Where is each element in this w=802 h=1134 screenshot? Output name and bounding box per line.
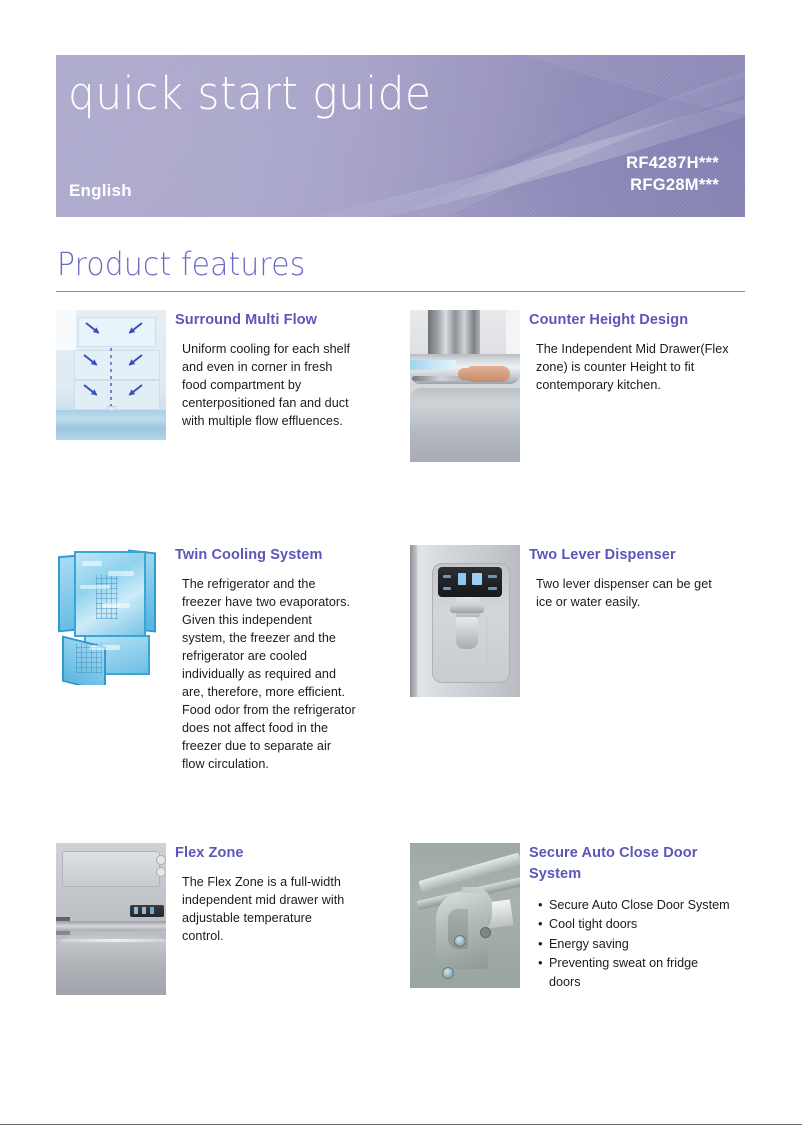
feature-thumbnail-two-lever-dispenser	[410, 545, 520, 697]
model-number-2: RFG28M***	[626, 175, 719, 197]
banner-language-label: English	[69, 181, 132, 201]
section-divider	[56, 291, 745, 292]
feature-text-twin-cooling-system: Twin Cooling System The refrigerator and…	[166, 545, 356, 773]
banner-title: quick start guide	[68, 71, 431, 116]
feature-thumbnail-surround-multi-flow	[56, 310, 166, 440]
feature-card-secure-auto-close-door-system: Secure Auto Close Door System Secure Aut…	[410, 843, 730, 992]
feature-card-flex-zone: Flex Zone The Flex Zone is a full-width …	[56, 843, 356, 995]
model-number-1: RF4287H***	[626, 153, 719, 175]
banner-model-numbers: RF4287H*** RFG28M***	[626, 153, 719, 197]
door-hinge-mechanism-photo	[410, 843, 520, 988]
list-item: Cool tight doors	[549, 915, 730, 934]
feature-text-two-lever-dispenser: Two Lever Dispenser Two lever dispenser …	[520, 545, 730, 611]
feature-heading: Surround Multi Flow	[175, 310, 356, 331]
feature-card-two-lever-dispenser: Two Lever Dispenser Two lever dispenser …	[410, 545, 730, 697]
feature-thumbnail-flex-zone	[56, 843, 166, 995]
list-item: Secure Auto Close Door System	[549, 896, 730, 915]
feature-card-surround-multi-flow: Surround Multi Flow Uniform cooling for …	[56, 310, 356, 440]
fridge-mid-drawer-hand-photo	[410, 310, 520, 462]
feature-text-flex-zone: Flex Zone The Flex Zone is a full-width …	[166, 843, 356, 945]
feature-heading: Secure Auto Close Door System	[529, 843, 730, 885]
fridge-interior-airflow-photo	[56, 310, 166, 440]
footer-divider	[0, 1124, 802, 1125]
feature-body: The Flex Zone is a full-width independen…	[182, 873, 356, 945]
feature-text-secure-auto-close-door-system: Secure Auto Close Door System Secure Aut…	[520, 843, 730, 992]
feature-bullet-list: Secure Auto Close Door System Cool tight…	[529, 896, 730, 992]
feature-body: The refrigerator and the freezer have tw…	[182, 575, 356, 773]
blue-translucent-fridge-photo	[56, 545, 166, 685]
feature-thumbnail-counter-height-design	[410, 310, 520, 462]
feature-heading: Flex Zone	[175, 843, 356, 864]
feature-card-twin-cooling-system: Twin Cooling System The refrigerator and…	[56, 545, 356, 773]
feature-text-counter-height-design: Counter Height Design The Independent Mi…	[520, 310, 730, 394]
feature-heading: Two Lever Dispenser	[529, 545, 730, 566]
flex-zone-drawer-photo	[56, 843, 166, 995]
header-banner: quick start guide English RF4287H*** RFG…	[56, 55, 745, 217]
water-ice-dispenser-photo	[410, 545, 520, 697]
feature-thumbnail-twin-cooling-system	[56, 545, 166, 685]
feature-thumbnail-secure-auto-close-door-system	[410, 843, 520, 988]
page-title: Product features	[57, 245, 305, 283]
list-item: Energy saving	[549, 935, 730, 954]
feature-card-counter-height-design: Counter Height Design The Independent Mi…	[410, 310, 730, 462]
list-item: Preventing sweat on fridge doors	[549, 954, 730, 993]
feature-body: Uniform cooling for each shelf and even …	[182, 340, 356, 430]
feature-body: The Independent Mid Drawer(Flex zone) is…	[536, 340, 730, 394]
feature-heading: Twin Cooling System	[175, 545, 356, 566]
feature-heading: Counter Height Design	[529, 310, 730, 331]
feature-text-surround-multi-flow: Surround Multi Flow Uniform cooling for …	[166, 310, 356, 430]
feature-body: Two lever dispenser can be get ice or wa…	[536, 575, 730, 611]
